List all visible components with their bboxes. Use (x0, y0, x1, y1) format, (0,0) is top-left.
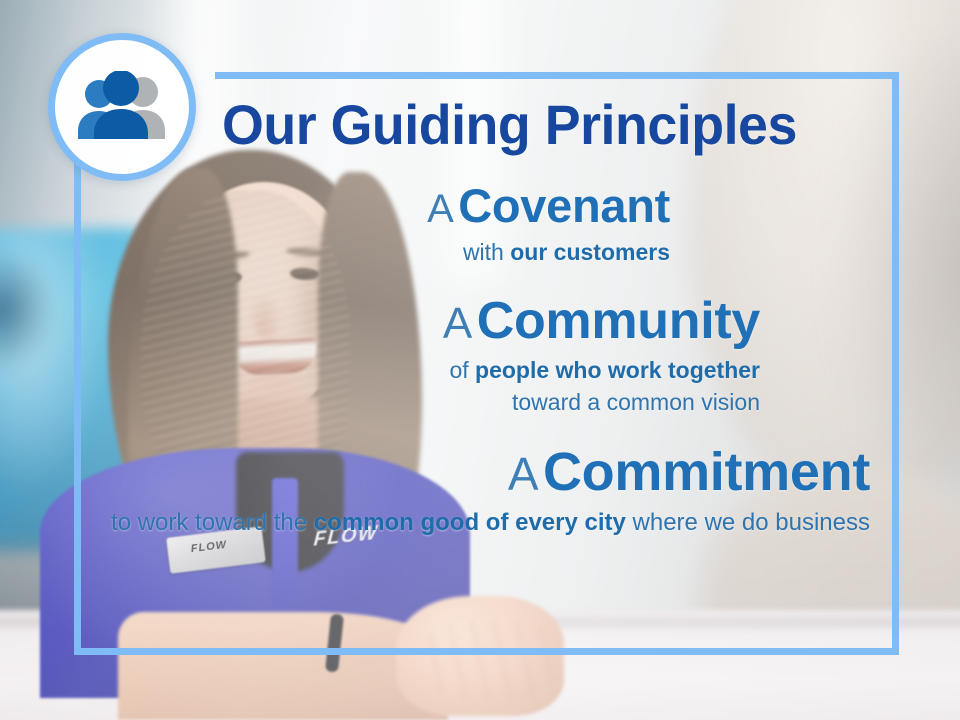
principle-covenant: A Covenant with our customers (0, 182, 878, 269)
principle-keyword: Commitment (543, 442, 870, 502)
principle-title: A Covenant (0, 182, 670, 230)
guiding-principles-banner: FLOW FLOW Our Guiding Principles (0, 0, 960, 720)
principle-subtitle: with our customers (0, 236, 670, 269)
principle-community: A Community of people who work togethert… (0, 295, 878, 419)
people-group-icon (69, 71, 175, 143)
principles-list: A Covenant with our customers A Communit… (0, 182, 878, 540)
principle-commitment: A Commitment to work toward the common g… (0, 445, 878, 540)
principle-title: A Commitment (0, 445, 870, 500)
principle-subtitle: to work toward the common good of every … (0, 506, 870, 540)
principle-subtitle: of people who work togethertoward a comm… (0, 354, 760, 419)
principle-article: A (508, 448, 539, 500)
principle-keyword: Community (477, 292, 760, 350)
principle-title: A Community (0, 295, 760, 348)
principle-article: A (443, 299, 472, 348)
people-group-badge (48, 33, 196, 181)
page-title: Our Guiding Principles (222, 92, 797, 157)
principle-keyword: Covenant (458, 179, 670, 232)
principle-article: A (427, 187, 454, 231)
associate-fingers (420, 620, 560, 700)
